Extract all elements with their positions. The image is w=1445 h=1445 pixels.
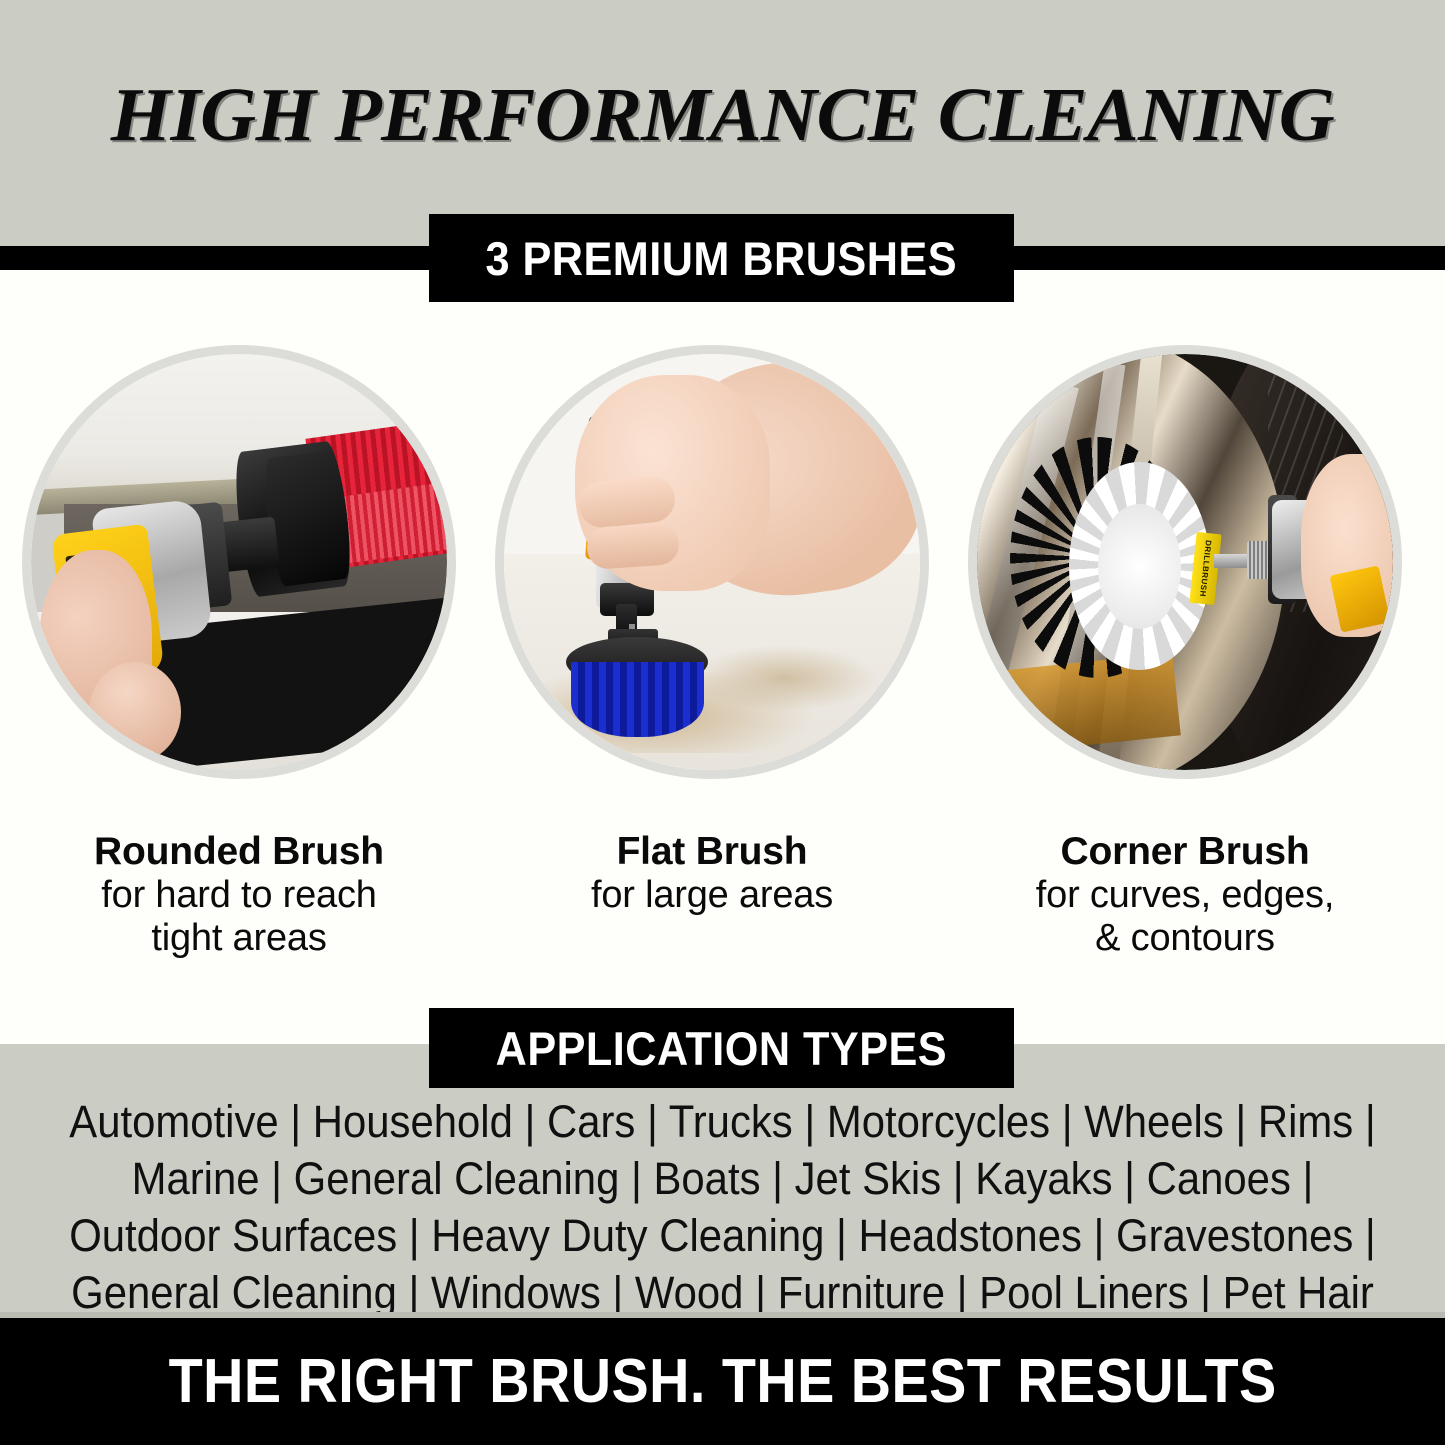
banner-application-types-label: APPLICATION TYPES (496, 1021, 947, 1076)
banner-premium-brushes-label: 3 PREMIUM BRUSHES (486, 231, 958, 286)
photo1-hand-finger (89, 662, 181, 762)
caption-flat-brush-sub1: for large areas (495, 874, 929, 917)
application-types-line-2: Marine | General Cleaning | Boats | Jet … (51, 1150, 1395, 1207)
caption-rounded-brush-title: Rounded Brush (22, 830, 456, 874)
photo2-blue-bristles (571, 662, 704, 737)
application-types-line-1: Automotive | Household | Cars | Trucks |… (51, 1093, 1395, 1150)
banner-application-types: APPLICATION TYPES (429, 1008, 1014, 1088)
application-types-line-3: Outdoor Surfaces | Heavy Duty Cleaning |… (51, 1207, 1395, 1264)
caption-corner-brush-title: Corner Brush (968, 830, 1402, 874)
caption-flat-brush: Flat Brush for large areas (495, 830, 929, 917)
photo2-finger-2 (586, 521, 680, 569)
photo-corner-brush: DRILLBRUSH (968, 345, 1402, 779)
photo3-brush-core (1098, 504, 1181, 629)
application-types-list: Automotive | Household | Cars | Trucks |… (0, 1093, 1445, 1321)
photo-flat-brush-image (504, 354, 920, 770)
page-title: HIGH PERFORMANCE CLEANING (0, 72, 1445, 159)
photo-rounded-brush-image (31, 354, 447, 770)
photo-rounded-brush (22, 345, 456, 779)
banner-premium-brushes: 3 PREMIUM BRUSHES (429, 214, 1014, 302)
photo-flat-brush (495, 345, 929, 779)
caption-flat-brush-title: Flat Brush (495, 830, 929, 874)
caption-rounded-brush: Rounded Brush for hard to reach tight ar… (22, 830, 456, 960)
caption-corner-brush: Corner Brush for curves, edges, & contou… (968, 830, 1402, 960)
photo2-dust-patch-2 (691, 645, 878, 712)
caption-corner-brush-sub2: & contours (968, 917, 1402, 960)
infographic-page: HIGH PERFORMANCE CLEANING 3 PREMIUM BRUS… (0, 0, 1445, 1445)
caption-rounded-brush-sub2: tight areas (22, 917, 456, 960)
photo-corner-brush-image: DRILLBRUSH (977, 354, 1393, 770)
footer-tagline: THE RIGHT BRUSH. THE BEST RESULTS (168, 1346, 1276, 1417)
footer-bar: THE RIGHT BRUSH. THE BEST RESULTS (0, 1318, 1445, 1445)
caption-rounded-brush-sub1: for hard to reach (22, 874, 456, 917)
caption-corner-brush-sub1: for curves, edges, (968, 874, 1402, 917)
photo3-brush-brand-text: DRILLBRUSH (1198, 539, 1213, 597)
